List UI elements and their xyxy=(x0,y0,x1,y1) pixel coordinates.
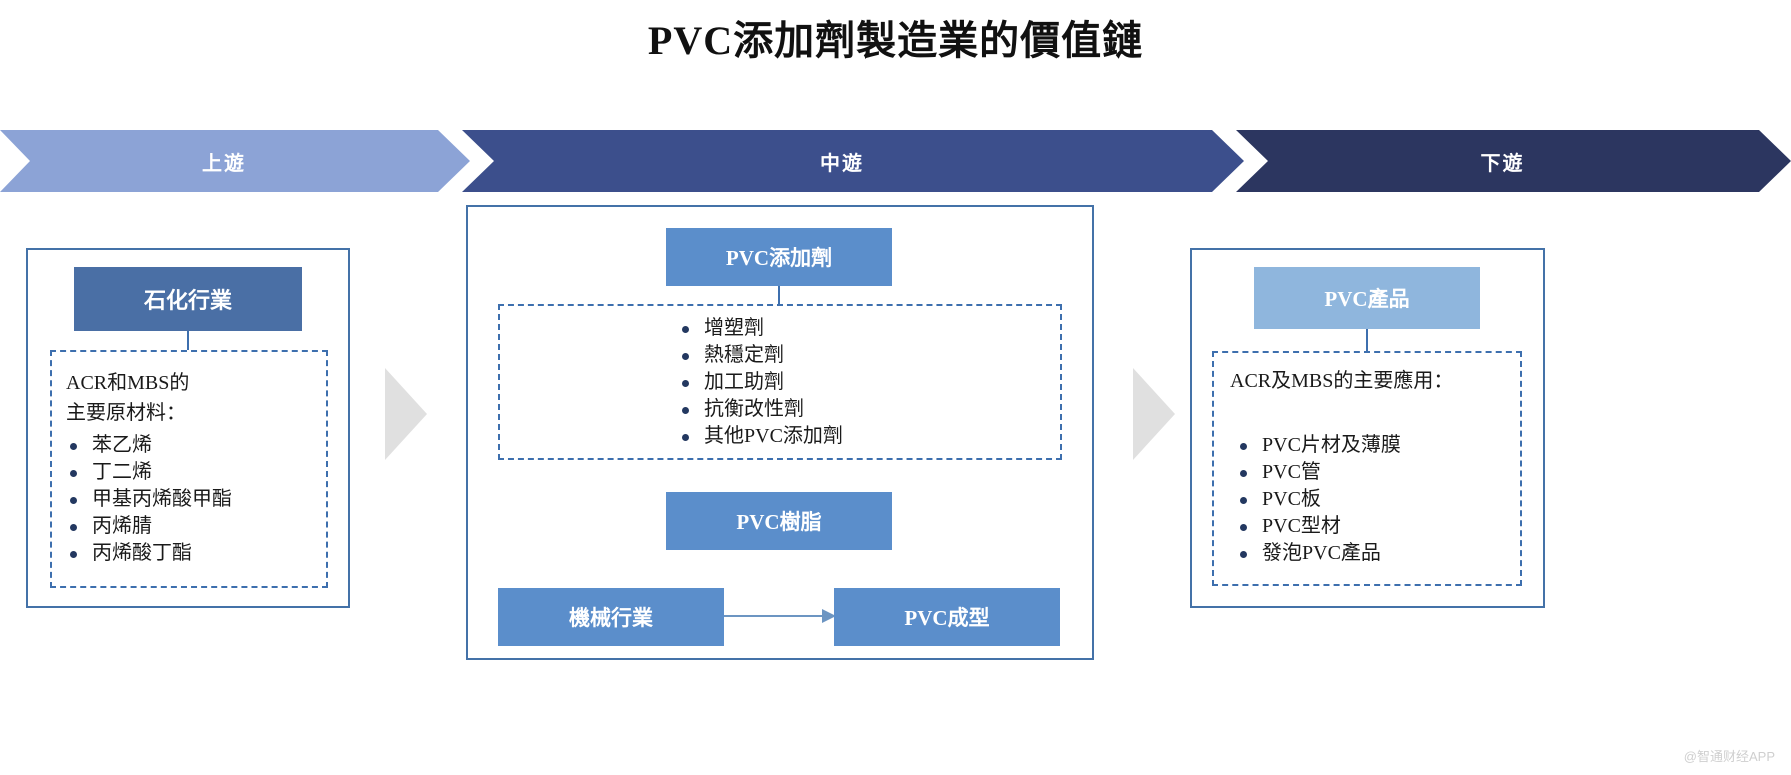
banner-stage-upstream-label: 上遊 xyxy=(202,147,246,176)
list-item: 抗衡改性劑 xyxy=(678,396,1048,423)
banner-stage-midstream: 中遊 xyxy=(462,130,1244,192)
upstream-heading-line1: ACR和MBS的 xyxy=(66,368,316,398)
pvc-resin-label: PVC樹脂 xyxy=(736,506,821,536)
arrow-machinery-to-molding-line xyxy=(724,615,834,617)
list-item: 丁二烯 xyxy=(66,459,322,486)
list-item: PVC管 xyxy=(1236,459,1526,486)
petrochemical-industry-label: 石化行業 xyxy=(144,283,232,315)
pvc-molding-label: PVC成型 xyxy=(904,602,989,632)
pvc-product-box: PVC產品 xyxy=(1254,267,1480,329)
list-item: 發泡PVC產品 xyxy=(1236,540,1526,567)
banner-stage-downstream: 下遊 xyxy=(1236,130,1791,192)
list-item: 其他PVC添加劑 xyxy=(678,423,1048,450)
watermark: @智通财经APP xyxy=(1684,746,1775,765)
pvc-product-label: PVC產品 xyxy=(1324,283,1409,313)
banner-stage-midstream-label: 中遊 xyxy=(820,147,864,176)
pvc-additive-list: 增塑劑 熱穩定劑 加工助劑 抗衡改性劑 其他PVC添加劑 xyxy=(678,315,1048,450)
pvc-additive-box: PVC添加劑 xyxy=(666,228,892,286)
value-chain-banner: 上遊 中遊 下遊 xyxy=(0,130,1791,192)
petrochemical-industry-box: 石化行業 xyxy=(74,267,302,331)
list-item: 增塑劑 xyxy=(678,315,1048,342)
upstream-heading: ACR和MBS的 主要原材料： xyxy=(66,368,316,428)
connector-product-to-applications xyxy=(1366,329,1368,351)
list-item: PVC片材及薄膜 xyxy=(1236,432,1526,459)
list-item: 丙烯腈 xyxy=(66,513,322,540)
banner-stage-upstream: 上遊 xyxy=(0,130,470,192)
upstream-material-list: 苯乙烯 丁二烯 甲基丙烯酸甲酯 丙烯腈 丙烯酸丁酯 xyxy=(66,432,322,567)
pvc-molding-box: PVC成型 xyxy=(834,588,1060,646)
flow-arrow-midstream-to-downstream-icon xyxy=(1133,368,1175,460)
downstream-application-list: PVC片材及薄膜 PVC管 PVC板 PVC型材 發泡PVC產品 xyxy=(1236,432,1526,567)
downstream-heading: ACR及MBS的主要應用： xyxy=(1230,366,1520,396)
list-item: 加工助劑 xyxy=(678,369,1048,396)
banner-stage-downstream-label: 下遊 xyxy=(1481,147,1525,176)
machinery-industry-box: 機械行業 xyxy=(498,588,724,646)
list-item: 熱穩定劑 xyxy=(678,342,1048,369)
list-item: 丙烯酸丁酯 xyxy=(66,540,322,567)
machinery-industry-label: 機械行業 xyxy=(569,602,653,632)
upstream-heading-line2: 主要原材料： xyxy=(66,398,316,428)
connector-petrochem-to-materials xyxy=(187,331,189,351)
pvc-resin-box: PVC樹脂 xyxy=(666,492,892,550)
list-item: 甲基丙烯酸甲酯 xyxy=(66,486,322,513)
flow-arrow-upstream-to-midstream-icon xyxy=(385,368,427,460)
list-item: PVC板 xyxy=(1236,486,1526,513)
pvc-additive-label: PVC添加劑 xyxy=(726,242,832,272)
connector-additive-to-list xyxy=(778,286,780,304)
list-item: 苯乙烯 xyxy=(66,432,322,459)
list-item: PVC型材 xyxy=(1236,513,1526,540)
page-title: PVC添加劑製造業的價值鏈 xyxy=(0,8,1791,66)
